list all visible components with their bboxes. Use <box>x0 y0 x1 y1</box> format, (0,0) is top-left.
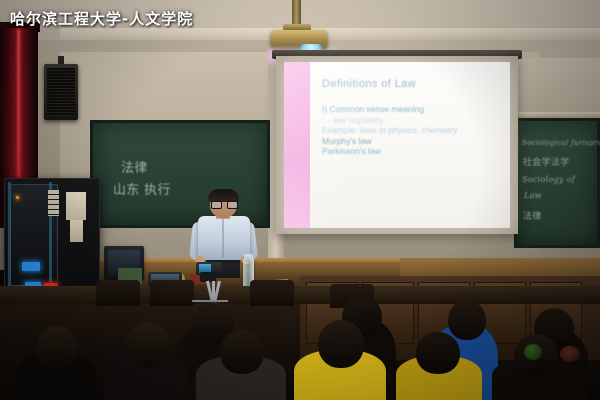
slide-title: Definitions of Law <box>322 78 500 90</box>
seat-row-back <box>0 286 600 304</box>
blackboard-left: 法律 山东 执行 <box>90 120 270 228</box>
chalk-line-left-1: 法律 <box>121 157 148 176</box>
presentation-slide: Definitions of Law I) Common sense meani… <box>284 62 510 228</box>
projection-screen: Definitions of Law I) Common sense meani… <box>284 62 510 228</box>
slide-line-4: Murphy's law <box>322 136 500 147</box>
plant <box>560 346 580 362</box>
seat[interactable] <box>96 280 140 306</box>
rack-led-amber <box>16 196 19 199</box>
wall-above-right-board <box>508 58 600 116</box>
projector-mount <box>292 0 301 26</box>
watermark-text: 哈尔滨工程大学-人文学院 <box>10 8 193 29</box>
shirt-seam <box>222 218 224 258</box>
slide-line-2: - law regularity <box>322 115 500 126</box>
lecture-hall-photo: 法律 山东 执行 Sociological Jurisprudence 社会学法… <box>0 0 600 400</box>
seat[interactable] <box>150 280 194 306</box>
slide-body: Definitions of Law I) Common sense meani… <box>310 62 510 228</box>
chalk-line-right-1: Sociological Jurisprudence <box>522 139 600 147</box>
plant <box>524 344 542 360</box>
rack-button-labels <box>48 190 59 216</box>
blackboard-right: Sociological Jurisprudence 社会学法学 Sociolo… <box>514 118 600 248</box>
slide-line-5: Parkinson's law <box>322 146 500 157</box>
chalk-line-right-4: Law <box>524 191 542 200</box>
rack-paper-label-2 <box>70 220 83 242</box>
speaker-grill <box>47 68 75 116</box>
chalk-line-right-3: Sociology of <box>522 175 575 184</box>
slide-line-1: I) Common sense meaning <box>322 104 500 115</box>
chalk-line-left-2: 山东 执行 <box>113 179 171 198</box>
glasses-icon <box>211 201 236 207</box>
rack-paper-label-1 <box>66 192 86 220</box>
rack-led-blue-1 <box>22 262 40 271</box>
lecturer-torso <box>198 216 250 260</box>
chalk-line-right-5: 法律 <box>523 209 542 222</box>
slide-accent-band <box>284 62 310 228</box>
chalk-line-right-2: 社会学法学 <box>523 155 570 168</box>
slide-line-3: Example: laws in physics, chemistry <box>322 125 500 136</box>
seat[interactable] <box>250 280 294 306</box>
